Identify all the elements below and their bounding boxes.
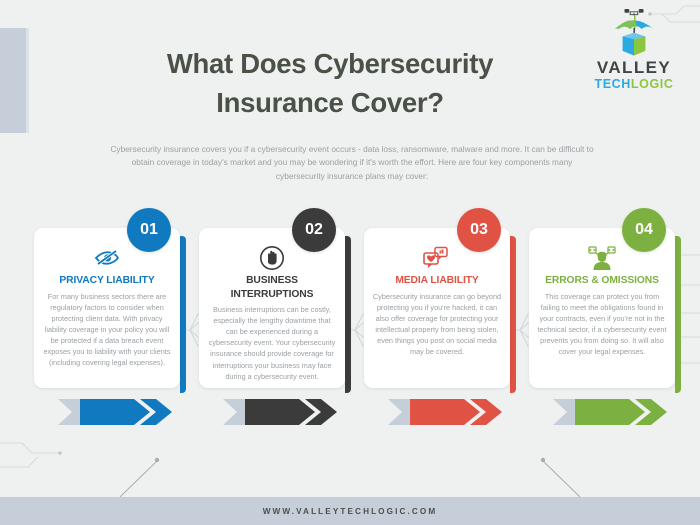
card-text-2: Business interruptions can be costly, es…: [207, 304, 337, 382]
card-number-badge-4: 04: [622, 208, 666, 252]
card-body-2: BUSINESS INTERRUPTIONS Business interrup…: [199, 228, 345, 388]
umbrella-server-icon: x: [604, 8, 664, 58]
arrow-decoration-3: [368, 391, 518, 427]
cards-row: PRIVACY LIABILITY For many business sect…: [0, 228, 700, 428]
arrow-decoration-4: [533, 391, 683, 427]
footer-bar: WWW.VALLEYTECHLOGIC.COM: [0, 497, 700, 525]
arrow-decoration-2: [203, 391, 353, 427]
card-title-1: PRIVACY LIABILITY: [42, 274, 172, 288]
card-number-badge-1: 01: [127, 208, 171, 252]
card-4: ERRORS & OMISSIONS This coverage can pro…: [529, 228, 681, 428]
intro-paragraph: Cybersecurity insurance covers you if a …: [108, 143, 596, 183]
card-side-bar-2: [345, 236, 351, 393]
card-title-4: ERRORS & OMISSIONS: [537, 274, 667, 288]
card-text-4: This coverage can protect you from faili…: [537, 291, 667, 357]
card-2: BUSINESS INTERRUPTIONS Business interrup…: [199, 228, 351, 428]
card-1: PRIVACY LIABILITY For many business sect…: [34, 228, 186, 428]
card-text-1: For many business sectors there are regu…: [42, 291, 172, 369]
company-logo: x VALLEY TECHLOGIC: [586, 8, 682, 90]
logo-tech-text: TECH: [594, 77, 630, 91]
logo-logic-text: LOGIC: [631, 77, 674, 91]
card-side-bar-1: [180, 236, 186, 393]
card-title-2: BUSINESS INTERRUPTIONS: [207, 274, 337, 301]
left-accent-bar: [0, 28, 26, 133]
card-number-badge-3: 03: [457, 208, 501, 252]
left-accent-bar-shadow: [26, 28, 29, 133]
card-side-bar-3: [510, 236, 516, 393]
logo-techlogic-text: TECHLOGIC: [594, 78, 673, 91]
logo-valley-text: VALLEY: [597, 59, 671, 76]
card-body-3: MEDIA LIABILITY Cybersecurity insurance …: [364, 228, 510, 388]
card-body-4: ERRORS & OMISSIONS This coverage can pro…: [529, 228, 675, 388]
card-text-3: Cybersecurity insurance can go beyond pr…: [372, 291, 502, 357]
card-3: MEDIA LIABILITY Cybersecurity insurance …: [364, 228, 516, 428]
diagonal-trace-decoration: [0, 431, 700, 497]
arrow-decoration-1: [38, 391, 188, 427]
card-number-badge-2: 02: [292, 208, 336, 252]
footer-website-url[interactable]: WWW.VALLEYTECHLOGIC.COM: [263, 507, 438, 516]
card-body-1: PRIVACY LIABILITY For many business sect…: [34, 228, 180, 388]
card-side-bar-4: [675, 236, 681, 393]
card-title-3: MEDIA LIABILITY: [372, 274, 502, 288]
page-title: What Does Cybersecurity Insurance Cover?: [110, 44, 550, 122]
